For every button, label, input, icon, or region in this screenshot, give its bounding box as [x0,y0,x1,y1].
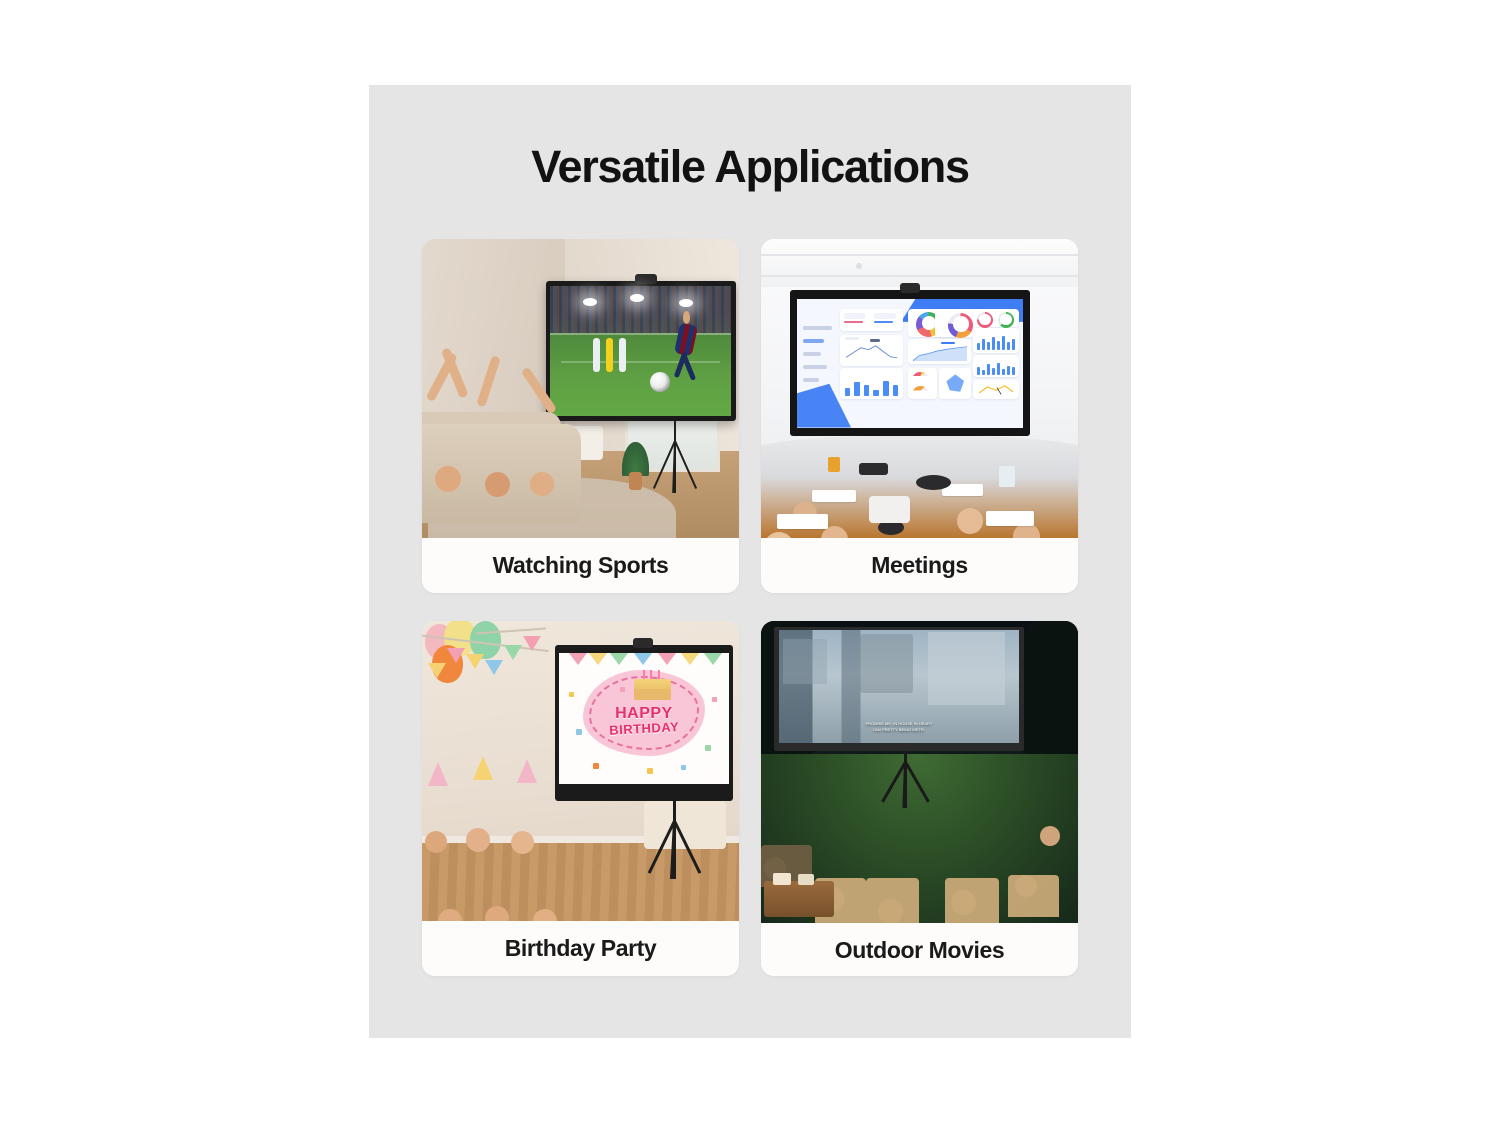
analytics-dashboard [797,299,1023,428]
area-chart [913,344,968,362]
projector-screen-sports [546,281,736,422]
feature-panel: Versatile Applications [369,85,1131,1038]
page-title: Versatile Applications [369,141,1131,193]
application-card-birthday-party[interactable]: HAPPY BIRTHDAY [422,621,739,976]
birthday-party-image: HAPPY BIRTHDAY [422,621,739,921]
meetings-image [761,239,1078,538]
application-card-meetings[interactable]: Meetings [761,239,1078,593]
applications-grid: Watching Sports [422,239,1078,976]
meetings-caption-bar: Meetings [761,538,1078,593]
card-label: Watching Sports [422,538,739,593]
card-label: Meetings [761,538,1078,593]
watching-sports-image [422,239,739,538]
product-feature-page: Versatile Applications [0,0,1500,1125]
outdoor-movies-image: PROMISE ME, IN HOUSE IN HEART I AM PRETT… [761,621,1078,923]
birthday-cake-icon [634,679,671,700]
projector-screen-birthday: HAPPY BIRTHDAY [555,645,733,801]
income-line-chart [845,342,898,361]
watching-sports-caption-bar: Watching Sports [422,538,739,593]
snack-crate [764,881,834,917]
card-label: Birthday Party [422,921,739,976]
card-label: Outdoor Movies [761,923,1078,976]
projector-screen-meeting [790,290,1031,437]
dashboard-sidebar [801,317,835,410]
movie-subtitle: PROMISE ME, IN HOUSE IN HEART I AM PRETT… [822,721,976,733]
projector-screen-outdoor: PROMISE ME, IN HOUSE IN HEART I AM PRETT… [774,627,1024,751]
application-card-watching-sports[interactable]: Watching Sports [422,239,739,593]
application-card-outdoor-movies[interactable]: PROMISE ME, IN HOUSE IN HEART I AM PRETT… [761,621,1078,976]
birthday-party-caption-bar: Birthday Party [422,921,739,976]
outdoor-movies-caption-bar: Outdoor Movies [761,923,1078,976]
